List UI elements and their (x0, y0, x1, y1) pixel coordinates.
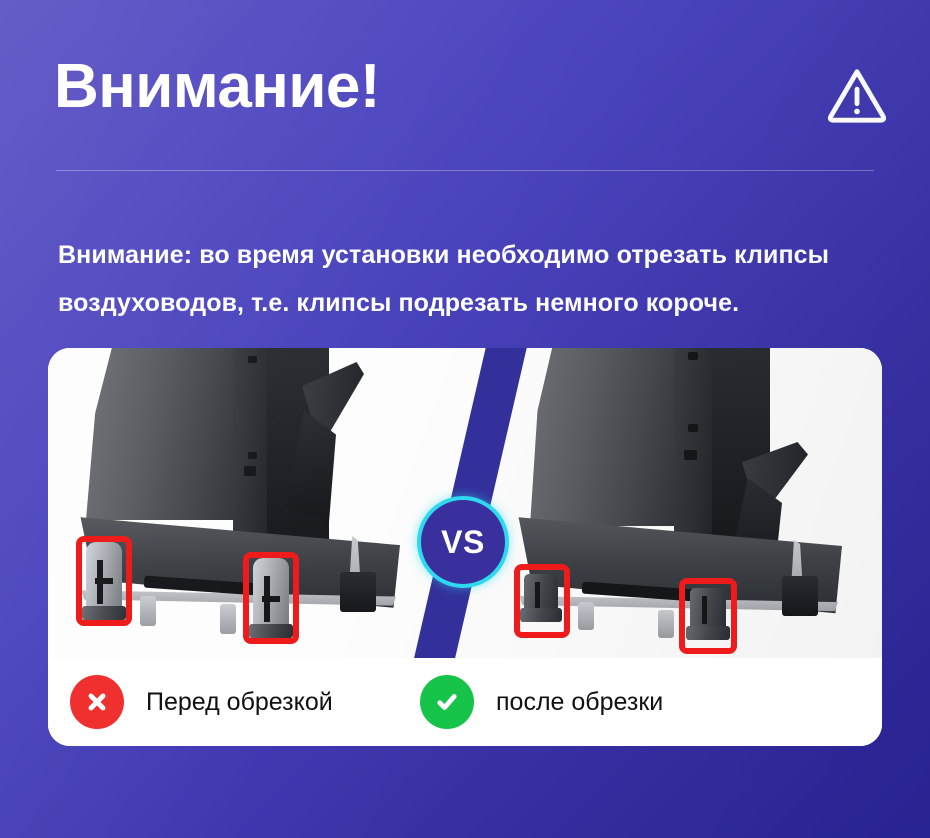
after-label-group: после обрезки (420, 658, 663, 746)
before-label-text: Перед обрезкой (146, 688, 333, 717)
before-label-group: Перед обрезкой (70, 658, 333, 746)
duct-upper-face (86, 348, 238, 520)
duct-rib-notch-mid (688, 424, 698, 432)
header-divider (56, 170, 874, 171)
duct-upper-face (530, 348, 680, 526)
base-tab-block (340, 572, 376, 612)
poster-header: Внимание! (0, 0, 930, 172)
check-circle-icon (420, 675, 474, 729)
duct-rib-notch-low (244, 466, 256, 476)
duct-center-rib (233, 348, 269, 554)
base-tab-1 (140, 596, 156, 626)
duct-rib-notch-top (688, 352, 698, 360)
duct-rib-notch-top (248, 356, 257, 363)
base-tab-2 (220, 604, 236, 634)
vs-label: VS (441, 524, 485, 561)
notice-text: Внимание: во время установки необходимо … (58, 231, 878, 327)
base-tab-block (782, 576, 818, 616)
highlight-box-right (679, 578, 737, 654)
x-circle-icon (70, 675, 124, 729)
page-title: Внимание! (54, 56, 380, 118)
comparison-labels: Перед обрезкой после обрезки (48, 658, 882, 746)
duct-rib-notch-low (684, 450, 697, 460)
highlight-box-left (514, 564, 570, 638)
base-tab-2 (658, 610, 674, 638)
highlight-box-right (243, 552, 299, 644)
vs-badge: VS (417, 496, 509, 588)
duct-rib-notch-mid (248, 452, 257, 459)
warning-poster: Внимание! Внимание: во время установки н… (0, 0, 930, 838)
base-tab-1 (578, 602, 594, 630)
highlight-box-left (76, 536, 132, 626)
after-label-text: после обрезки (496, 688, 663, 717)
warning-triangle-icon (826, 64, 888, 126)
